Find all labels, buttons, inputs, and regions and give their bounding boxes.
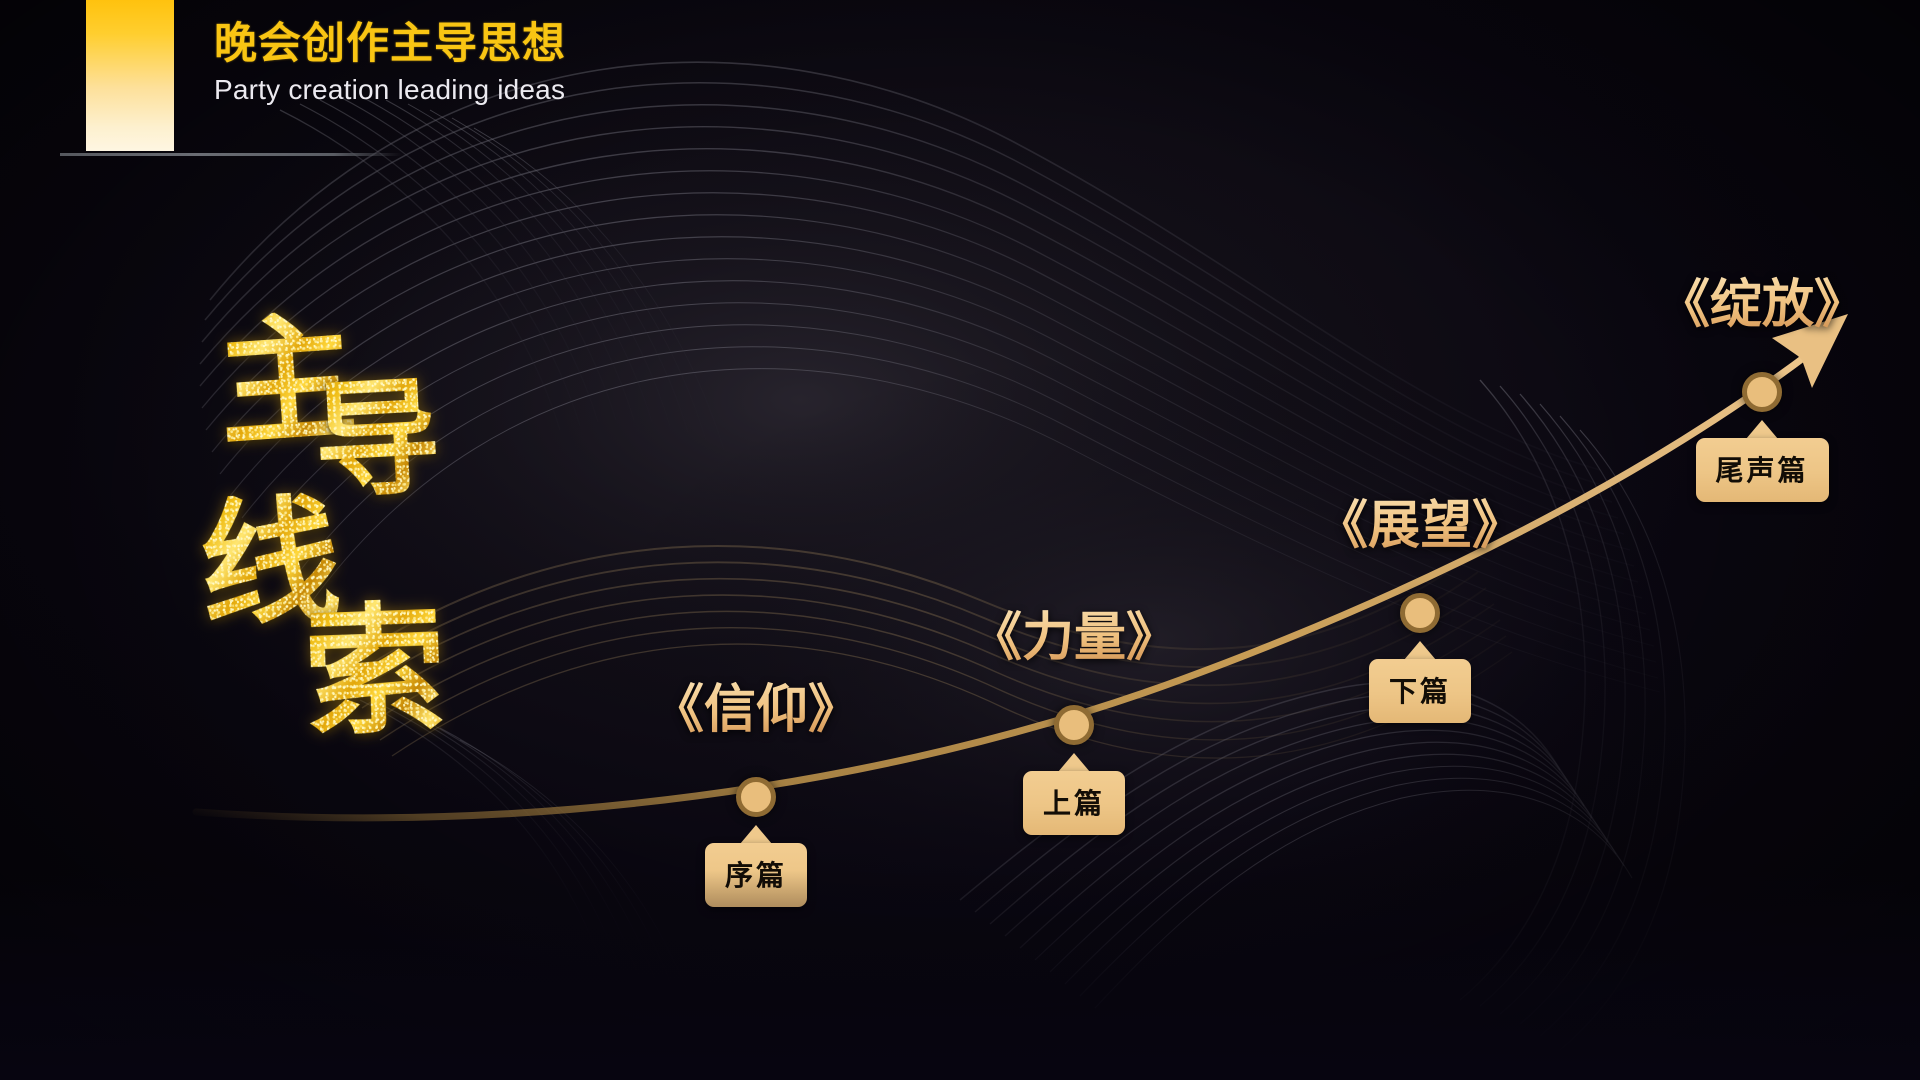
milestone-badge-notch-icon — [1404, 641, 1436, 660]
slide-canvas: 晚会创作主导思想 Party creation leading ideas 主 … — [0, 0, 1920, 1080]
milestone-badge-notch-icon — [1058, 753, 1090, 772]
milestone-title: 《绽放》 — [1658, 262, 1866, 337]
bottom-fade-overlay — [0, 870, 1920, 1080]
milestone-dot-icon[interactable] — [736, 777, 776, 817]
milestone-title: 《信仰》 — [652, 667, 860, 742]
milestone-dot-icon[interactable] — [1742, 372, 1782, 412]
milestone-badge[interactable]: 尾声篇 — [1696, 438, 1829, 502]
milestone-badge[interactable]: 上篇 — [1023, 771, 1125, 835]
milestone-badge-notch-icon — [1746, 420, 1778, 439]
milestone-title: 《展望》 — [1316, 483, 1524, 558]
milestone-dot-icon[interactable] — [1054, 705, 1094, 745]
milestone-title: 《力量》 — [970, 595, 1178, 670]
milestone-dot-icon[interactable] — [1400, 593, 1440, 633]
milestone-badge[interactable]: 下篇 — [1369, 659, 1471, 723]
milestone-badge-notch-icon — [740, 825, 772, 844]
